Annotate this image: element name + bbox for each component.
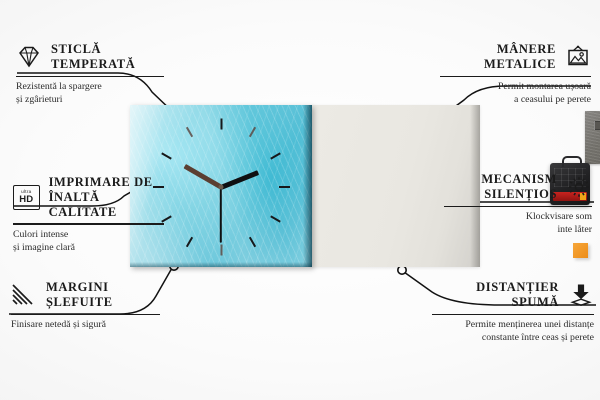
clock-hand-minute [220,170,259,189]
product-image [130,105,480,267]
glass-bottom-edge [130,262,312,267]
clock-tick [186,127,193,138]
clock-tick [220,119,222,130]
desc-line-1: Rezistentă la spargere [16,81,166,94]
callout-rule [432,314,594,316]
desc-line-2: inte låter [444,224,592,237]
callout-description: Permit montarea ușoară a ceasului pe per… [440,81,591,107]
down-arrow-stack-icon [568,283,594,307]
desc-line-2: și zgârieturi [16,94,166,107]
desc-line-1: Permite menținerea unei distanțe [432,319,594,332]
mechanism-hanging-loop [562,156,582,167]
clock-hand-hour [183,164,222,189]
diamond-icon [16,45,42,69]
callout-header: MECANISM SILENȚIOS [444,172,592,202]
title-line-2: SILENȚIOS [481,187,557,202]
desc-line-1: Permit montarea ușoară [440,81,591,94]
gear-icon [566,175,592,199]
glass-right-edge [303,105,312,267]
callout-rule [11,314,160,316]
title-line-2: TEMPERATĂ [51,57,135,72]
callout-tempered-glass: STICLĂ TEMPERATĂ Rezistentă la spargere … [16,42,166,107]
hanging-picture-frame-icon [565,45,591,69]
callout-description: Rezistentă la spargere și zgârieturi [16,81,166,107]
clock-tick [270,215,281,222]
callout-title: STICLĂ TEMPERATĂ [51,42,135,72]
callout-metal-handles: MÂNERE METALICE Permit montarea ușoară a… [440,42,591,107]
title-line-2: ÎNALTĂ CALITATE [49,190,165,220]
callout-silent-mechanism: MECANISM SILENȚIOS Klockvisare som inte … [444,172,592,237]
ultra-hd-icon-main: HD [19,195,33,205]
clock-hub [219,185,224,190]
callout-polished-edges: MARGINI ȘLEFUITE Finisare netedă și sigu… [11,280,161,332]
infographic-canvas: STICLĂ TEMPERATĂ Rezistentă la spargere … [0,0,600,400]
title-line-2: SPUMĂ [476,295,559,310]
title-line-1: MECANISM [481,172,557,187]
clock-hand-second [220,187,222,243]
callout-header: MARGINI ȘLEFUITE [11,280,161,310]
callout-description: Culori intense și imagine clară [13,229,165,255]
foam-spacer-part [573,243,588,258]
callout-header: STICLĂ TEMPERATĂ [16,42,166,72]
desc-line-2: și imagine clară [13,242,165,255]
clock-tick [249,236,256,247]
callout-high-quality-print: ultra HD IMPRIMARE DE ÎNALTĂ CALITATE Cu… [13,175,165,255]
title-line-1: MARGINI [46,280,113,295]
hanger-slot [594,121,600,130]
clock-tick [186,236,193,247]
clock-tick [270,152,281,159]
title-line-2: ȘLEFUITE [46,295,113,310]
callout-rule [13,223,164,225]
diagonal-lines-icon [11,283,37,307]
callout-title: MÂNERE METALICE [484,42,556,72]
title-line-1: STICLĂ [51,42,135,57]
callout-title: MARGINI ȘLEFUITE [46,280,113,310]
desc-line-1: Klockvisare som [444,211,592,224]
desc-line-2: constante între ceas și perete [432,332,594,345]
callout-header: DISTANȚIER SPUMĂ [432,280,594,310]
clock-tick [249,127,256,138]
callout-title: IMPRIMARE DE ÎNALTĂ CALITATE [49,175,165,219]
metal-hanger-part [585,111,600,164]
desc-line-1: Finisare netedă și sigură [11,319,161,332]
callout-header: MÂNERE METALICE [440,42,591,72]
callout-description: Klockvisare som inte låter [444,211,592,237]
clock-tick [220,245,222,256]
callout-rule [16,76,164,78]
ultra-hd-icon: ultra HD [13,185,40,210]
callout-rule [440,76,591,78]
title-line-1: IMPRIMARE DE [49,175,165,190]
callout-description: Permite menținerea unei distanțe constan… [432,319,594,345]
callout-rule [444,206,592,208]
callout-title: MECANISM SILENȚIOS [481,172,557,202]
callout-foam-spacer: DISTANȚIER SPUMĂ Permite menținerea unei… [432,280,594,345]
clock-tick [279,186,290,188]
title-line-1: DISTANȚIER [476,280,559,295]
desc-line-1: Culori intense [13,229,165,242]
title-line-1: MÂNERE [484,42,556,57]
callout-title: DISTANȚIER SPUMĂ [476,280,559,310]
desc-line-2: a ceasului pe perete [440,94,591,107]
callout-header: ultra HD IMPRIMARE DE ÎNALTĂ CALITATE [13,175,165,219]
clock-tick [161,152,172,159]
title-line-2: METALICE [484,57,556,72]
callout-description: Finisare netedă și sigură [11,319,161,332]
